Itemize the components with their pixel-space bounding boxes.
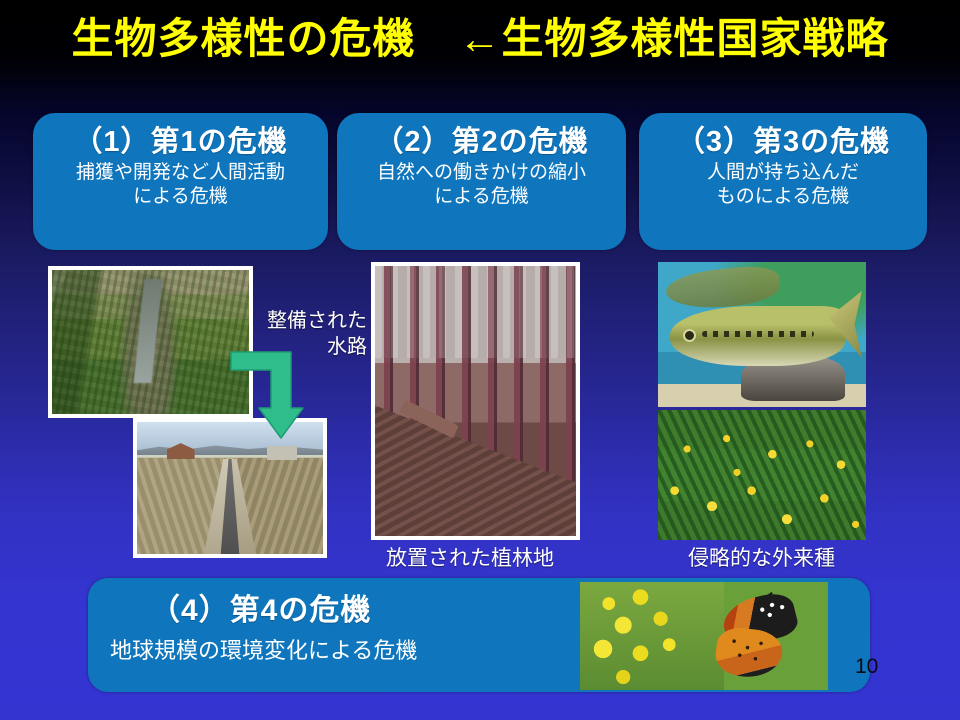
- crisis-box-3[interactable]: （3）第3の危機 人間が持ち込んだ ものによる危機: [639, 113, 927, 250]
- crisis-box-2-heading: （2）第2の危機: [337, 113, 626, 159]
- channel-building: [267, 446, 297, 461]
- crisis-box-2[interactable]: （2）第2の危機 自然への働きかけの縮小 による危機: [337, 113, 626, 250]
- slide-title: 生物多様性の危機 ←生物多様性国家戦略: [0, 16, 960, 62]
- photo-largemouth-bass: [658, 262, 866, 407]
- goldenrod-bloom: [580, 582, 724, 690]
- bass-body: [670, 306, 845, 367]
- photo-butterfly-on-goldenrod: [580, 582, 828, 690]
- crisis-box-1-heading: （1）第1の危機: [33, 113, 328, 159]
- photo-invasive-flower-mat: [658, 410, 866, 540]
- butterfly: [711, 597, 795, 677]
- photo-overgrown-ditch: [48, 266, 253, 418]
- crisis-box-1-subtext: 捕獲や開発など人間活動 による危機: [33, 159, 328, 209]
- page-number: 10: [855, 655, 878, 679]
- caption-invasive-alien-species: 侵略的な外来種: [688, 542, 835, 572]
- bass-eye: [683, 329, 696, 342]
- green-elbow-arrow-icon: [229, 348, 307, 440]
- crisis-box-2-subtext: 自然への働きかけの縮小 による危機: [337, 159, 626, 209]
- caption-abandoned-plantation: 放置された植林地: [386, 542, 554, 572]
- forest-canopy-light: [375, 266, 576, 358]
- photo-invasive-flower-mat-art: [658, 410, 866, 540]
- slide-canvas: 生物多様性の危機 ←生物多様性国家戦略 （1）第1の危機 捕獲や開発など人間活動…: [0, 0, 960, 720]
- crisis-box-3-subtext: 人間が持ち込んだ ものによる危機: [639, 159, 927, 209]
- crisis-box-1[interactable]: （1）第1の危機 捕獲や開発など人間活動 による危機: [33, 113, 328, 250]
- crisis-box-3-heading: （3）第3の危機: [639, 113, 927, 159]
- photo-abandoned-plantation: [371, 262, 580, 540]
